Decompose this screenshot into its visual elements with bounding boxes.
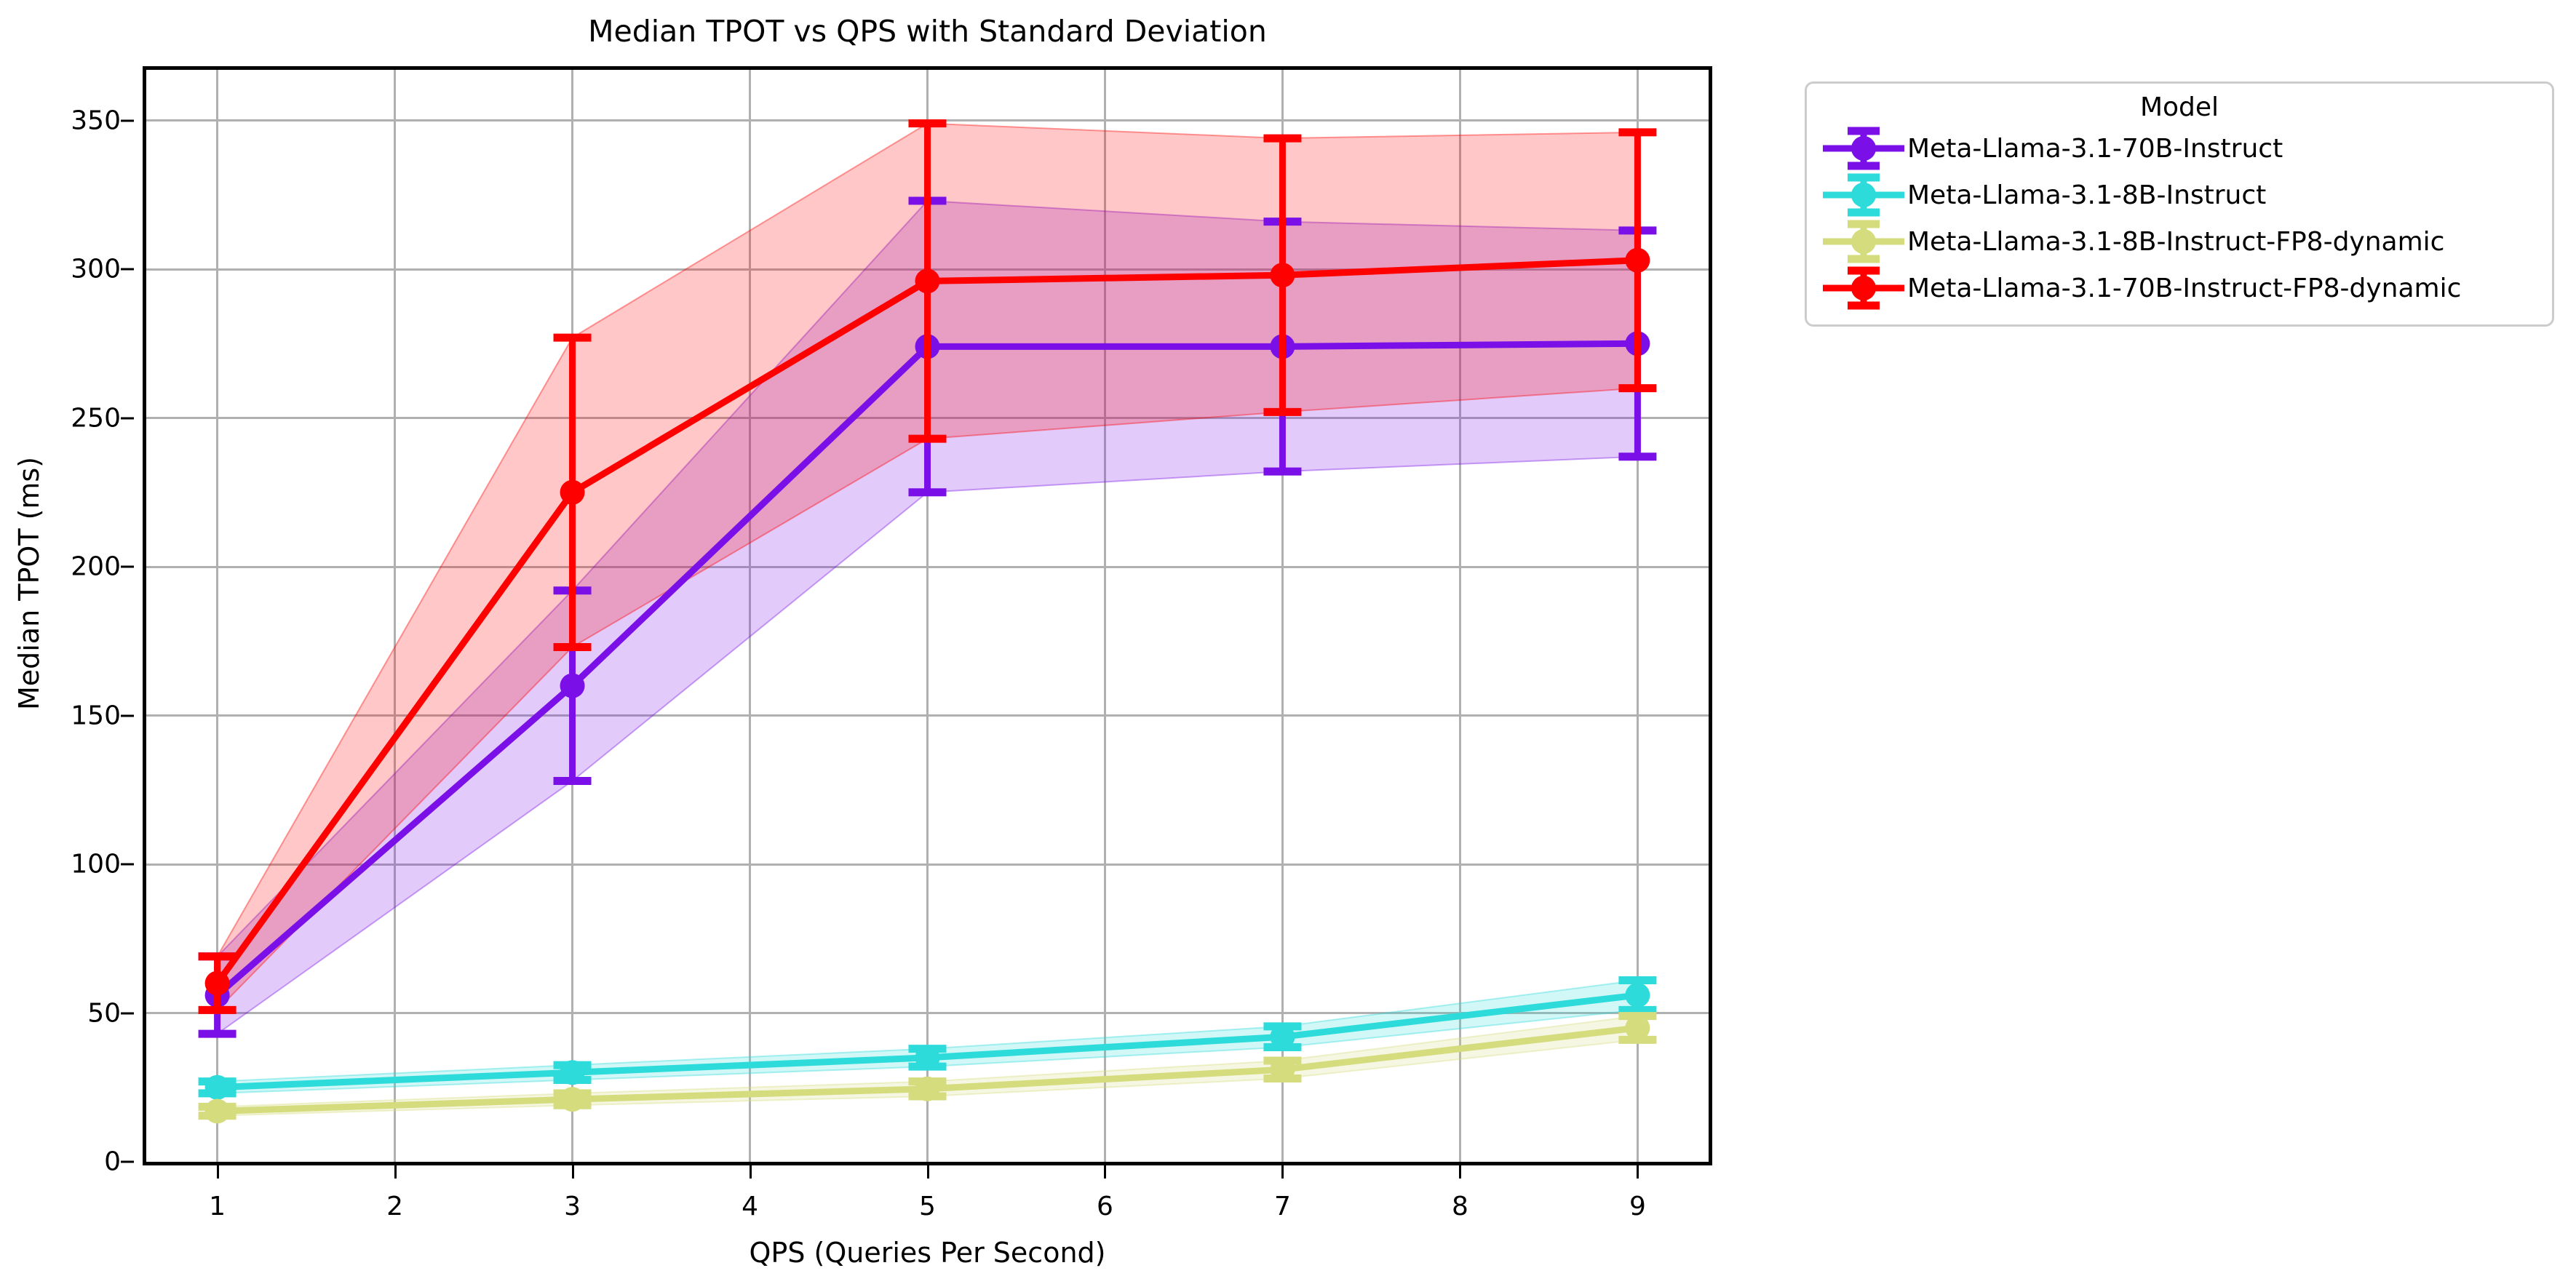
x-tick-mark (394, 1165, 397, 1179)
legend-title: Model (1820, 92, 2539, 122)
legend-item-label: Meta-Llama-3.1-8B-Instruct (1907, 180, 2266, 210)
data-point-1-1 (560, 1060, 585, 1085)
legend-item-2[interactable]: Meta-Llama-3.1-8B-Instruct-FP8-dynamic (1820, 218, 2539, 265)
x-tick-label: 6 (1061, 1192, 1148, 1221)
x-tick-label: 3 (529, 1192, 616, 1221)
data-point-3-4 (1625, 248, 1650, 273)
x-tick-label: 8 (1416, 1192, 1503, 1221)
x-tick-mark (750, 1165, 752, 1179)
plot-area (143, 66, 1712, 1165)
y-tick-mark (121, 268, 134, 271)
y-tick-label: 0 (12, 1147, 121, 1177)
data-point-3-0 (205, 971, 230, 996)
x-tick-mark (1459, 1165, 1461, 1179)
data-point-2-4 (1625, 1016, 1650, 1040)
data-point-1-0 (205, 1075, 230, 1100)
x-tick-label: 7 (1239, 1192, 1326, 1221)
x-tick-mark (572, 1165, 574, 1179)
y-tick-mark (121, 1012, 134, 1014)
legend-item-3[interactable]: Meta-Llama-3.1-70B-Instruct-FP8-dynamic (1820, 265, 2539, 311)
y-tick-mark (121, 714, 134, 717)
y-tick-mark (121, 119, 134, 121)
data-point-1-4 (1625, 983, 1650, 1008)
x-tick-label: 5 (884, 1192, 971, 1221)
x-tick-mark (1637, 1165, 1639, 1179)
legend-item-label: Meta-Llama-3.1-8B-Instruct-FP8-dynamic (1907, 227, 2444, 257)
legend-item-1[interactable]: Meta-Llama-3.1-8B-Instruct (1820, 172, 2539, 218)
data-point-3-3 (1270, 263, 1295, 287)
x-tick-mark (217, 1165, 219, 1179)
data-point-3-2 (915, 268, 940, 293)
data-point-2-3 (1270, 1057, 1295, 1082)
data-point-2-0 (205, 1098, 230, 1123)
x-axis-label: QPS (Queries Per Second) (143, 1237, 1712, 1269)
series-layer (146, 70, 1709, 1162)
legend-marker-icon (1820, 265, 1907, 311)
y-tick-mark (121, 417, 134, 419)
x-tick-label: 4 (707, 1192, 794, 1221)
x-tick-mark (1281, 1165, 1284, 1179)
legend-item-label: Meta-Llama-3.1-70B-Instruct-FP8-dynamic (1907, 274, 2461, 303)
y-axis-label: Median TPOT (ms) (13, 147, 45, 1020)
y-tick-mark (121, 566, 134, 568)
data-point-1-3 (1270, 1024, 1295, 1049)
legend-item-label: Meta-Llama-3.1-70B-Instruct (1907, 134, 2283, 164)
x-tick-label: 2 (351, 1192, 439, 1221)
y-tick-mark (121, 1161, 134, 1163)
legend: Model Meta-Llama-3.1-70B-InstructMeta-Ll… (1805, 81, 2554, 327)
data-point-3-1 (560, 480, 585, 505)
legend-marker-icon (1820, 218, 1907, 265)
x-tick-label: 9 (1594, 1192, 1681, 1221)
legend-marker-icon (1820, 172, 1907, 218)
legend-item-0[interactable]: Meta-Llama-3.1-70B-Instruct (1820, 125, 2539, 172)
data-point-2-2 (915, 1077, 940, 1101)
x-tick-mark (1104, 1165, 1106, 1179)
x-tick-mark (927, 1165, 929, 1179)
y-tick-label: 350 (12, 105, 121, 135)
chart-title: Median TPOT vs QPS with Standard Deviati… (143, 7, 1712, 55)
x-tick-label: 1 (174, 1192, 261, 1221)
plot-inner (146, 70, 1709, 1162)
data-point-0-1 (560, 674, 585, 698)
data-point-1-2 (915, 1045, 940, 1070)
chart-figure: Median TPOT vs QPS with Standard Deviati… (0, 0, 2576, 1284)
legend-marker-icon (1820, 125, 1907, 172)
data-point-2-1 (560, 1087, 585, 1112)
y-tick-mark (121, 864, 134, 866)
legend-items: Meta-Llama-3.1-70B-InstructMeta-Llama-3.… (1820, 125, 2539, 311)
